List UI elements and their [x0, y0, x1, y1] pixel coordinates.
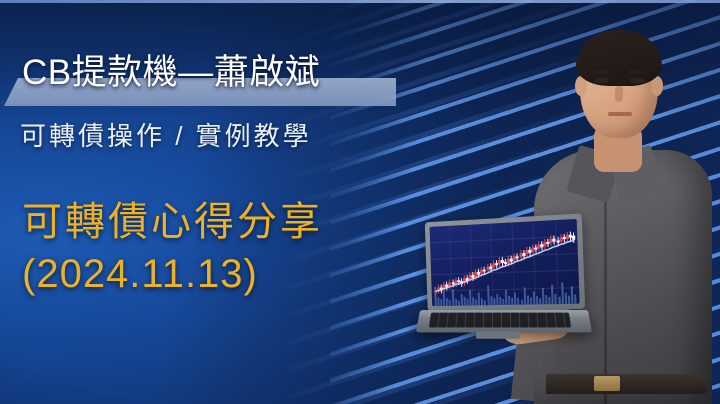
laptop-trackpad [476, 331, 520, 338]
laptop-keyboard [429, 313, 571, 328]
belt-buckle [594, 376, 620, 391]
presenter-mouth [608, 112, 632, 116]
presenter-hair [576, 30, 662, 86]
presenter-eye-left [594, 78, 609, 83]
headline-line-2: (2024.11.13) [22, 248, 422, 300]
laptop-device [418, 218, 594, 350]
page-subtitle: 可轉債操作 / 實例教學 [20, 115, 420, 157]
page-title: CB提款機—蕭啟斌 [22, 48, 412, 98]
laptop-lid [425, 213, 585, 311]
headline-block: 可轉債心得分享 (2024.11.13) [22, 196, 422, 300]
text-block: CB提款機—蕭啟斌 可轉債操作 / 實例教學 可轉債心得分享 (2024.11.… [0, 0, 420, 404]
presenter-eye-right [630, 78, 645, 83]
thumbnail-canvas: CB提款機—蕭啟斌 可轉債操作 / 實例教學 可轉債心得分享 (2024.11.… [0, 0, 720, 404]
presenter-belt [546, 374, 706, 394]
chart-moving-average-line [430, 219, 580, 306]
stock-chart-display [430, 219, 580, 306]
presenter-nose [615, 86, 623, 102]
headline-line-1: 可轉債心得分享 [22, 196, 422, 248]
